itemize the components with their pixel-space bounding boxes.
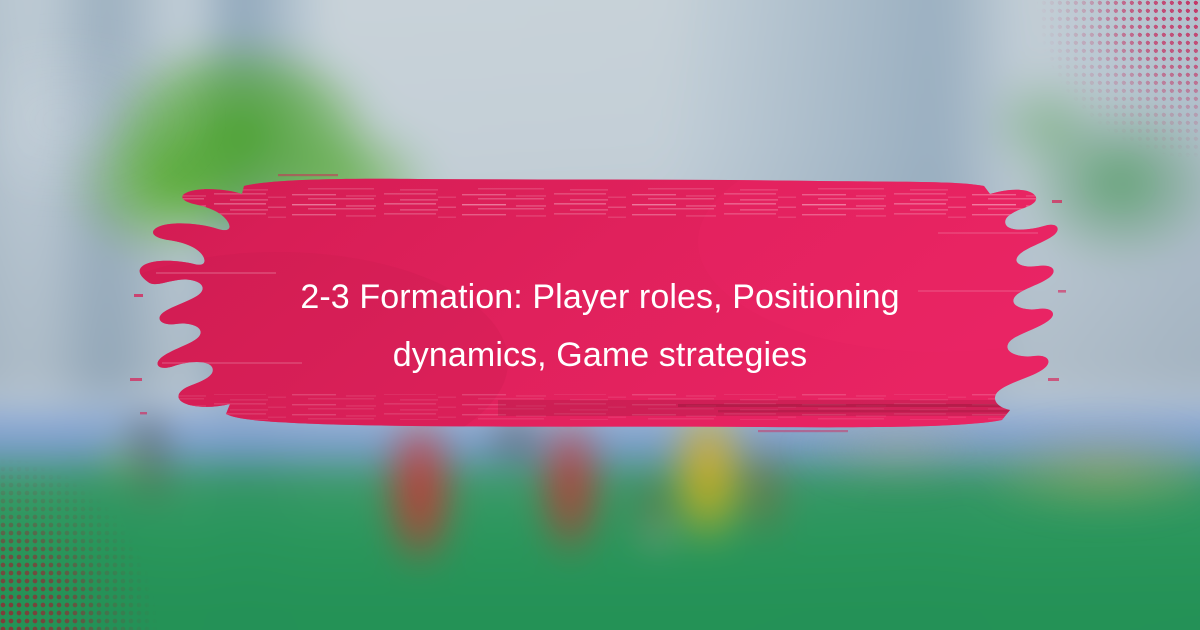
hero-banner-stage: 2-3 Formation: Player roles, Positioning…: [0, 0, 1200, 630]
banner-headline: 2-3 Formation: Player roles, Positioning…: [0, 268, 1200, 384]
headline-line-2: dynamics, Game strategies: [190, 326, 1010, 384]
headline-line-1: 2-3 Formation: Player roles, Positioning: [190, 268, 1010, 326]
